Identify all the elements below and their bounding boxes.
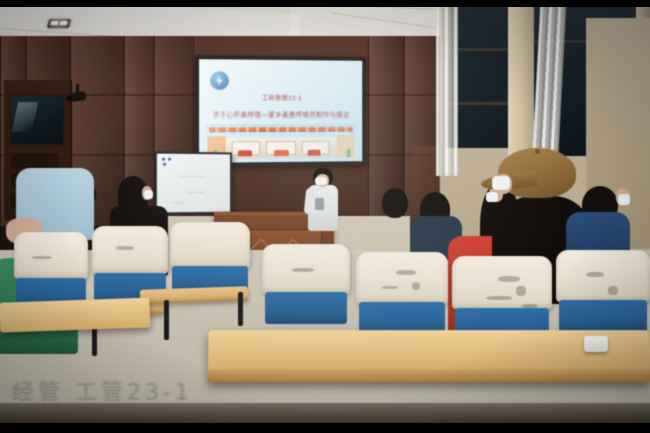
whiteboard-magnet — [162, 158, 165, 161]
lecture-seat[interactable] — [262, 244, 350, 324]
face-mask — [486, 192, 498, 202]
lecture-seat[interactable] — [14, 232, 88, 308]
university-emblem-logo — [210, 71, 228, 89]
door-window — [9, 94, 65, 146]
white-eraser-block[interactable] — [584, 336, 608, 352]
whiteboard-magnet — [163, 163, 166, 166]
presenter-standing — [306, 168, 340, 230]
student-mid-head — [382, 188, 408, 218]
window-pillar-center — [508, 6, 534, 166]
slide-title-line-2: 学子心怀桑梓情—家乡美景呼唤共制作与展会 — [199, 109, 362, 119]
sheer-curtain-left — [436, 6, 458, 176]
lecture-seat[interactable] — [556, 250, 650, 334]
ceiling-light-left — [47, 19, 71, 28]
lecture-seat[interactable] — [452, 256, 552, 342]
whiteboard-magnet — [168, 158, 171, 161]
letterbox-bottom — [0, 423, 650, 433]
letterbox-top — [0, 0, 650, 7]
lecture-seat[interactable] — [356, 252, 448, 336]
classroom-photo: 工商管理23-1 学子心怀桑梓情—家乡美景呼唤共制作与展会 — [0, 0, 650, 433]
face-mask — [492, 176, 510, 190]
face-mask — [618, 194, 630, 205]
whiteboard — [155, 152, 232, 215]
security-camera-icon — [70, 91, 87, 102]
foreground-desk-left — [0, 298, 151, 333]
lecture-seat[interactable] — [170, 222, 250, 296]
slide-title-line-1: 工商管理23-1 — [199, 93, 362, 102]
face-mask — [315, 177, 327, 185]
projection-screen: 工商管理23-1 学子心怀桑梓情—家乡美景呼唤共制作与展会 — [195, 55, 366, 167]
